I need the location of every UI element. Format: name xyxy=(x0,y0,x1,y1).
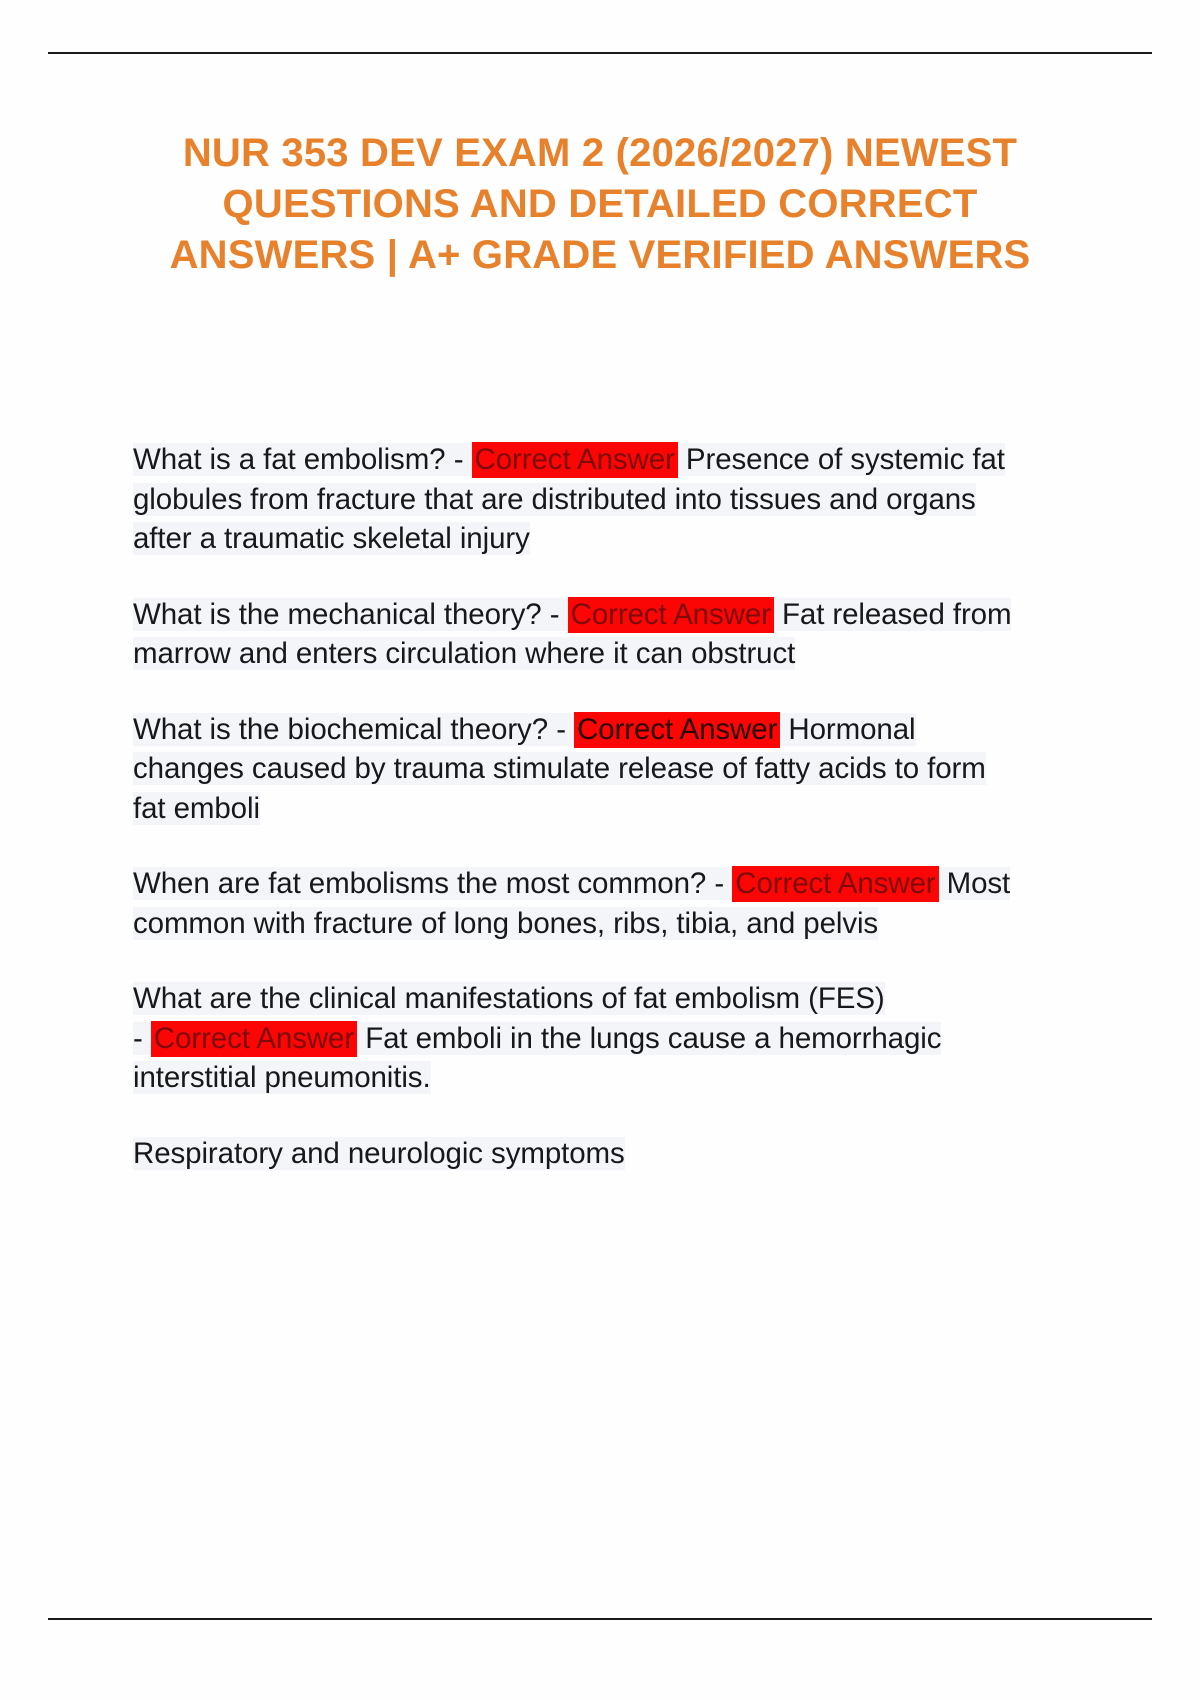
qa-separator: - xyxy=(550,598,560,631)
correct-answer-badge: Correct Answer xyxy=(732,866,938,902)
qa-question: What is a fat embolism? xyxy=(133,443,445,476)
document-body: What is a fat embolism? - Correct Answer… xyxy=(133,440,1013,1209)
qa-question: What is the biochemical theory? xyxy=(133,713,548,746)
correct-answer-badge: Correct Answer xyxy=(568,597,774,633)
qa-question: What is the mechanical theory? xyxy=(133,598,542,631)
closing-note-text: Respiratory and neurologic symptoms xyxy=(133,1137,625,1170)
closing-note: Respiratory and neurologic symptoms xyxy=(133,1134,1013,1174)
page-title: NUR 353 DEV EXAM 2 (2026/2027) NEWEST QU… xyxy=(150,128,1050,281)
footer-divider xyxy=(48,1618,1152,1620)
qa-separator: - xyxy=(133,1022,143,1055)
qa-separator: - xyxy=(714,867,724,900)
correct-answer-badge: Correct Answer xyxy=(472,442,678,478)
qa-item: What are the clinical manifestations of … xyxy=(133,979,1013,1098)
correct-answer-badge: Correct Answer xyxy=(574,712,780,748)
qa-separator: - xyxy=(454,443,464,476)
qa-item: What is a fat embolism? - Correct Answer… xyxy=(133,440,1013,559)
qa-item: When are fat embolisms the most common? … xyxy=(133,864,1013,943)
header-divider xyxy=(48,52,1152,54)
document-page: NUR 353 DEV EXAM 2 (2026/2027) NEWEST QU… xyxy=(0,0,1200,1700)
qa-separator: - xyxy=(556,713,566,746)
qa-question: When are fat embolisms the most common? xyxy=(133,867,706,900)
qa-item: What is the mechanical theory? - Correct… xyxy=(133,595,1013,674)
qa-question: What are the clinical manifestations of … xyxy=(133,982,885,1015)
correct-answer-badge: Correct Answer xyxy=(151,1021,357,1057)
qa-item: What is the biochemical theory? - Correc… xyxy=(133,710,1013,829)
